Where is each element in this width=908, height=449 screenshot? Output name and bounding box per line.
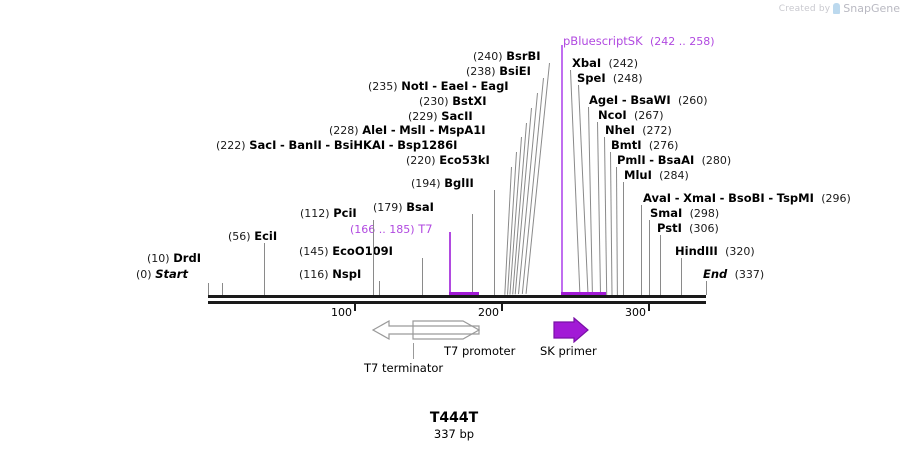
snapgene-logo-icon [833, 3, 840, 14]
site-label-start[interactable]: (0) Start [136, 268, 188, 281]
site-label-pbluescriptsk[interactable]: pBluescriptSK (242 .. 258) [563, 35, 715, 48]
feature-label-t7-promoter[interactable]: T7 promoter [444, 344, 515, 358]
site-label-ecoo109i[interactable]: (145) EcoO109I [299, 245, 393, 258]
ruler-tick-300 [648, 304, 650, 311]
ruler-tick-200 [501, 304, 503, 311]
leader-pbluescriptsk-feature [561, 45, 563, 293]
ruler-tick-100 [354, 304, 356, 311]
sequence-map: Created by SnapGene (0) Start (10) DrdI … [0, 0, 908, 449]
site-label-pcii[interactable]: (112) PciI [300, 207, 357, 220]
leader-avai [641, 205, 642, 295]
site-label-t7[interactable]: (166 .. 185) T7 [350, 223, 433, 236]
feature-arrow-sk-primer[interactable] [553, 317, 589, 347]
site-label-sacii[interactable]: (229) SacII [408, 110, 473, 123]
leader-t7-feature [449, 232, 451, 292]
ruler-label-300: 300 [625, 306, 648, 319]
site-label-bmti[interactable]: BmtI (276) [611, 139, 678, 152]
site-label-smai[interactable]: SmaI (298) [650, 207, 719, 220]
leader-bmti [610, 152, 612, 295]
site-label-agei-group[interactable]: AgeI - BsaWI (260) [589, 94, 708, 107]
site-label-avai-group[interactable]: AvaI - XmaI - BsoBI - TspMI (296) [643, 192, 851, 205]
site-label-ncoi[interactable]: NcoI (267) [598, 109, 664, 122]
site-label-bsrbi[interactable]: (240) BsrBI [473, 50, 541, 63]
site-label-alei-group[interactable]: (228) AleI - MslI - MspA1I [329, 124, 486, 137]
site-label-eco53ki[interactable]: (220) Eco53kI [406, 154, 490, 167]
ruler-axis [208, 301, 706, 304]
site-label-saci-group[interactable]: (222) SacI - BanII - BsiHKAI - Bsp1286I [216, 139, 457, 152]
ruler-label-200: 200 [478, 306, 501, 319]
leader-zero [208, 283, 209, 295]
leader-bglii [494, 190, 495, 295]
leader-pmli [616, 167, 618, 295]
site-label-pmli-group[interactable]: PmlI - BsaAI (280) [617, 154, 731, 167]
site-label-nspi[interactable]: (116) NspI [299, 268, 361, 281]
snapgene-watermark: Created by SnapGene [779, 2, 900, 15]
page-title: T444T [0, 410, 908, 426]
leader-hindiii [681, 258, 682, 295]
site-label-end[interactable]: End (337) [703, 268, 764, 281]
site-label-mlui[interactable]: MluI (284) [624, 169, 689, 182]
site-label-bglii[interactable]: (194) BglII [411, 177, 474, 190]
leader-end [706, 281, 707, 295]
site-label-drdi[interactable]: (10) DrdI [147, 252, 201, 265]
leader-agei [588, 107, 593, 295]
leader-ncoi [597, 122, 601, 295]
leader-spei [578, 85, 589, 295]
leader-nspi [379, 281, 380, 295]
ruler-label-100: 100 [331, 306, 354, 319]
feature-label-t7-terminator[interactable]: T7 terminator [364, 361, 443, 375]
sequence-backbone [208, 295, 706, 298]
leader-bsai [472, 214, 473, 295]
arrow-right-icon [412, 318, 480, 342]
site-label-nhei[interactable]: NheI (272) [605, 124, 672, 137]
site-label-noti-group[interactable]: (235) NotI - EaeI - EagI [368, 80, 509, 93]
site-label-ecii[interactable]: (56) EciI [228, 230, 277, 243]
leader-bstxi [515, 108, 532, 294]
leader-psti [660, 235, 661, 295]
site-label-spei[interactable]: SpeI (248) [577, 72, 643, 85]
site-label-hindiii[interactable]: HindIII (320) [675, 245, 755, 258]
leader-ecoo109i [422, 258, 423, 295]
feature-arrow-t7-promoter[interactable] [412, 318, 480, 346]
watermark-brand: SnapGene [843, 2, 900, 15]
site-label-bsai[interactable]: (179) BsaI [373, 201, 434, 214]
site-label-bsiei[interactable]: (238) BsiEI [466, 65, 531, 78]
site-label-psti[interactable]: PstI (306) [657, 222, 719, 235]
page-subtitle: 337 bp [0, 427, 908, 441]
site-label-bstxi[interactable]: (230) BstXI [419, 95, 487, 108]
leader-t7-terminator [413, 343, 414, 359]
leader-start [222, 283, 223, 295]
leader-mlui [623, 182, 624, 295]
leader-nhei [604, 137, 607, 295]
site-label-xbai[interactable]: XbaI (242) [572, 57, 638, 70]
arrow-right-filled-icon [553, 317, 589, 343]
watermark-prefix: Created by [779, 4, 831, 14]
leader-ecii [264, 243, 265, 295]
leader-pcii [373, 220, 374, 295]
leader-smai [649, 220, 650, 295]
feature-label-sk-primer[interactable]: SK primer [540, 344, 597, 358]
